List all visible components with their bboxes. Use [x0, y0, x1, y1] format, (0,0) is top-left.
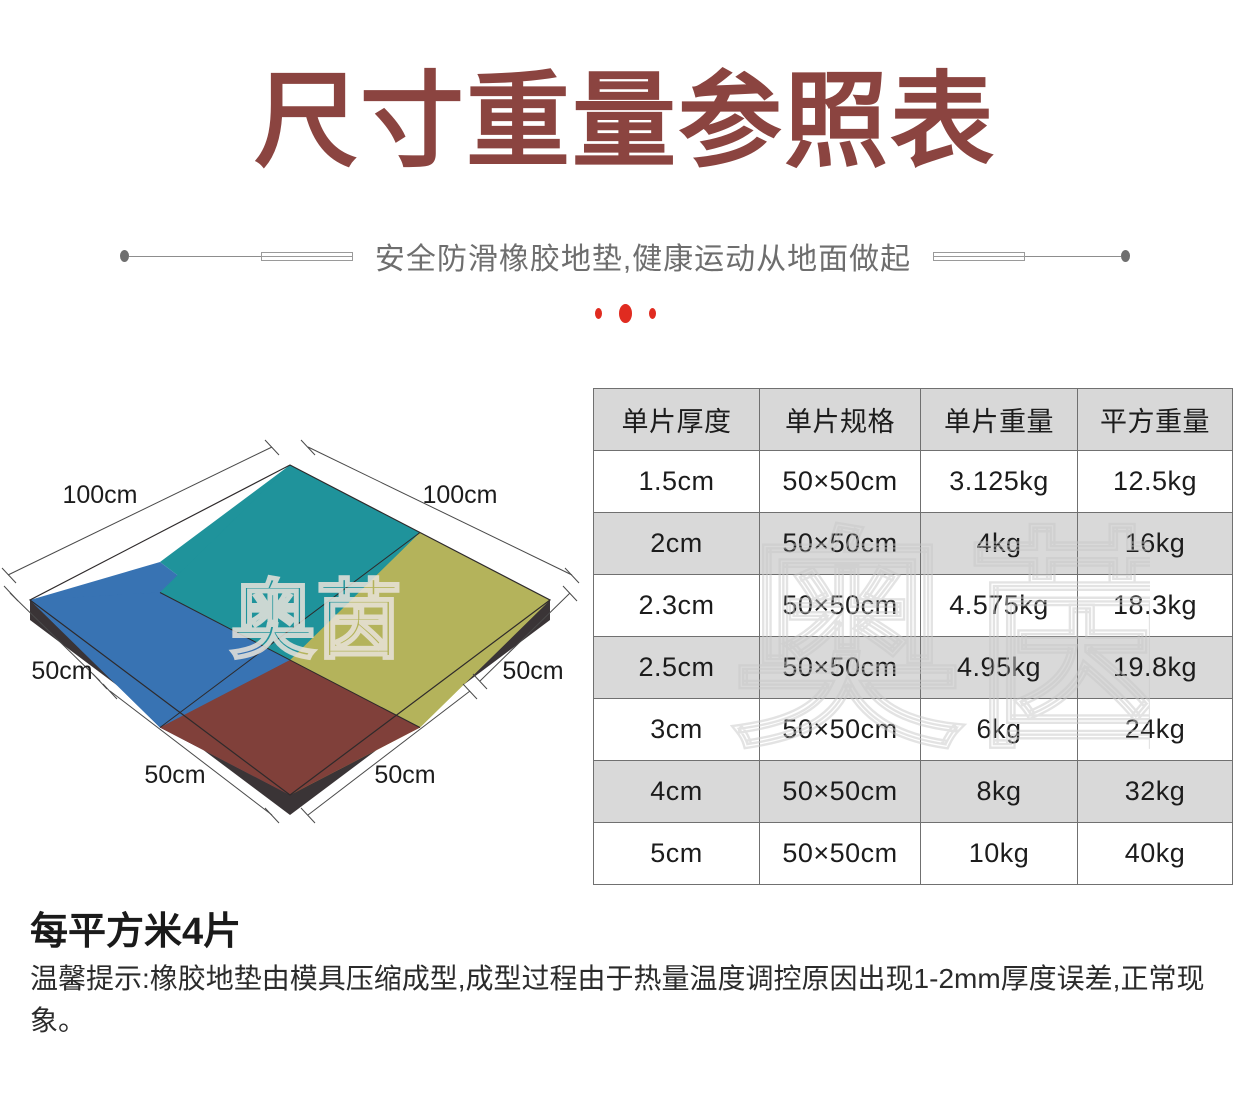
- cell-thickness: 1.5cm: [594, 451, 760, 513]
- cell-sqm-weight: 16kg: [1078, 513, 1233, 575]
- decor-dot-left-icon: [120, 250, 129, 262]
- cell-piece-weight: 3.125kg: [921, 451, 1078, 513]
- decor-left: [120, 250, 353, 262]
- table-row: 2cm 50×50cm 4kg 16kg: [594, 513, 1233, 575]
- footer-note: 温馨提示:橡胶地垫由模具压缩成型,成型过程由于热量温度调控原因出现1-2mm厚度…: [30, 958, 1235, 1042]
- cell-size: 50×50cm: [760, 761, 921, 823]
- mat-watermark: 奥茵: [230, 573, 402, 669]
- cell-thickness: 4cm: [594, 761, 760, 823]
- decor-dot-right-icon: [1121, 250, 1130, 262]
- cell-size: 50×50cm: [760, 823, 921, 885]
- dim-label-right: 50cm: [502, 657, 563, 685]
- table-row: 5cm 50×50cm 10kg 40kg: [594, 823, 1233, 885]
- cell-piece-weight: 8kg: [921, 761, 1078, 823]
- cell-sqm-weight: 19.8kg: [1078, 637, 1233, 699]
- dim-label-top-right: 100cm: [422, 481, 497, 509]
- cell-piece-weight: 10kg: [921, 823, 1078, 885]
- cell-size: 50×50cm: [760, 699, 921, 761]
- cell-sqm-weight: 18.3kg: [1078, 575, 1233, 637]
- cell-thickness: 2.3cm: [594, 575, 760, 637]
- dim-label-left: 50cm: [31, 657, 92, 685]
- dim-label-top-left: 100cm: [62, 481, 137, 509]
- subtitle-row: 安全防滑橡胶地垫,健康运动从地面做起: [0, 232, 1250, 280]
- spec-table: 单片厚度 单片规格 单片重量 平方重量 1.5cm 50×50cm 3.125k…: [593, 388, 1233, 885]
- page-root: 尺寸重量参照表 安全防滑橡胶地垫,健康运动从地面做起: [0, 0, 1250, 1099]
- cell-thickness: 3cm: [594, 699, 760, 761]
- table-header-cell: 单片规格: [760, 389, 921, 451]
- dot-small-right-icon: [649, 308, 656, 319]
- cell-size: 50×50cm: [760, 451, 921, 513]
- dot-separator: [0, 300, 1250, 326]
- table-row: 2.5cm 50×50cm 4.95kg 19.8kg: [594, 637, 1233, 699]
- decor-right: [933, 250, 1130, 262]
- decor-bar-right-icon: [933, 252, 1025, 261]
- table-header-cell: 单片重量: [921, 389, 1078, 451]
- decor-line-right: [1025, 256, 1121, 257]
- table-row: 1.5cm 50×50cm 3.125kg 12.5kg: [594, 451, 1233, 513]
- cell-piece-weight: 4.575kg: [921, 575, 1078, 637]
- footer-heading: 每平方米4片: [30, 900, 241, 955]
- table-header-row: 单片厚度 单片规格 单片重量 平方重量: [594, 389, 1233, 451]
- cell-sqm-weight: 12.5kg: [1078, 451, 1233, 513]
- cell-piece-weight: 4kg: [921, 513, 1078, 575]
- page-title: 尺寸重量参照表: [0, 66, 1250, 178]
- cell-sqm-weight: 24kg: [1078, 699, 1233, 761]
- dot-large-center-icon: [619, 304, 632, 323]
- cell-thickness: 2cm: [594, 513, 760, 575]
- cell-thickness: 5cm: [594, 823, 760, 885]
- dim-label-bottom-right: 50cm: [374, 761, 435, 789]
- cell-thickness: 2.5cm: [594, 637, 760, 699]
- cell-piece-weight: 6kg: [921, 699, 1078, 761]
- table-header-cell: 单片厚度: [594, 389, 760, 451]
- mat-diagram: 奥茵: [0, 425, 595, 865]
- dot-small-left-icon: [595, 308, 602, 319]
- cell-size: 50×50cm: [760, 575, 921, 637]
- table-row: 4cm 50×50cm 8kg 32kg: [594, 761, 1233, 823]
- cell-sqm-weight: 32kg: [1078, 761, 1233, 823]
- page-subtitle: 安全防滑橡胶地垫,健康运动从地面做起: [353, 234, 933, 278]
- dim-label-bottom-left: 50cm: [144, 761, 205, 789]
- cell-sqm-weight: 40kg: [1078, 823, 1233, 885]
- table-row: 3cm 50×50cm 6kg 24kg: [594, 699, 1233, 761]
- cell-piece-weight: 4.95kg: [921, 637, 1078, 699]
- cell-size: 50×50cm: [760, 513, 921, 575]
- table-row: 2.3cm 50×50cm 4.575kg 18.3kg: [594, 575, 1233, 637]
- table-header-cell: 平方重量: [1078, 389, 1233, 451]
- decor-bar-left-icon: [261, 252, 353, 261]
- cell-size: 50×50cm: [760, 637, 921, 699]
- decor-line-left: [129, 256, 261, 257]
